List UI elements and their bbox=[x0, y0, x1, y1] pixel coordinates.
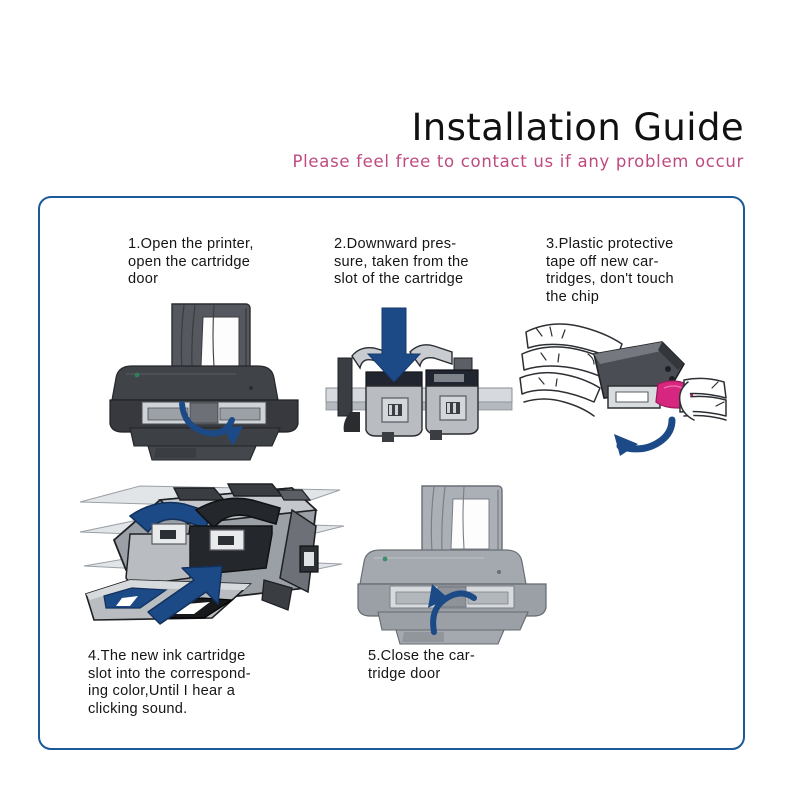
arrow-peel-curved-icon bbox=[614, 420, 672, 456]
step-2-illustration-carriage-cartridges bbox=[326, 300, 512, 460]
step-5-illustration-printer-close-door bbox=[348, 480, 574, 646]
printer-dark-body bbox=[110, 304, 298, 460]
page-subtitle: Please feel free to contact us if any pr… bbox=[40, 152, 744, 172]
step-2-block: 2.Downward pres- sure, taken from the sl… bbox=[334, 236, 524, 289]
printer-light-body bbox=[358, 486, 546, 644]
step-1-block: 1.Open the printer, open the cartridge d… bbox=[128, 236, 328, 289]
page-title: Installation Guide bbox=[40, 108, 744, 148]
step-5-block: 5.Close the car- tridge door bbox=[368, 648, 568, 683]
step-3-illustration-peel-tape bbox=[516, 306, 734, 466]
step-3-block: 3.Plastic protective tape off new car- t… bbox=[546, 236, 746, 306]
hand-right-lineart bbox=[680, 378, 726, 420]
arrow-down-straight-icon bbox=[368, 308, 420, 382]
step-2-text: 2.Downward pres- sure, taken from the sl… bbox=[334, 236, 524, 289]
step-5-text: 5.Close the car- tridge door bbox=[368, 648, 568, 683]
step-1-text: 1.Open the printer, open the cartridge d… bbox=[128, 236, 328, 289]
step-1-illustration-printer-open-door bbox=[96, 296, 326, 464]
step-3-text: 3.Plastic protective tape off new car- t… bbox=[546, 236, 746, 306]
step-4-text: 4.The new ink cartridge slot into the co… bbox=[88, 648, 333, 718]
step-4-illustration-insert-cartridge bbox=[78, 474, 346, 646]
installation-guide-page: Installation Guide Please feel free to c… bbox=[0, 0, 800, 800]
step-4-block: 4.The new ink cartridge slot into the co… bbox=[88, 648, 333, 718]
guide-header: Installation Guide Please feel free to c… bbox=[40, 108, 744, 172]
